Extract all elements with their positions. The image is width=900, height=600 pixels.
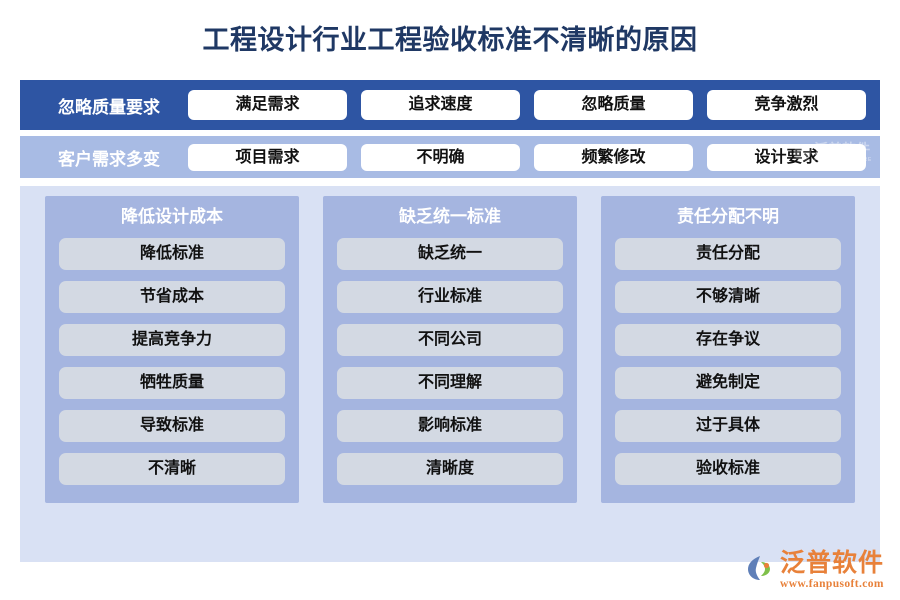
banner-row-2-label: 客户需求多变 xyxy=(34,145,184,170)
column-2-header: 缺乏统一标准 xyxy=(337,196,563,238)
banner-row-2: 客户需求多变 项目需求 不明确 频繁修改 设计要求 泛普软件 FANPU SOF… xyxy=(20,136,880,178)
column-item[interactable]: 导致标准 xyxy=(59,410,285,442)
column-group: 降低设计成本 降低标准 节省成本 提高竞争力 牺牲质量 导致标准 不清晰 缺乏统… xyxy=(45,196,855,503)
banner-row-1-label: 忽略质量要求 xyxy=(34,93,184,118)
column-2-items: 缺乏统一 行业标准 不同公司 不同理解 影响标准 清晰度 xyxy=(337,238,563,485)
fanpu-logo-icon xyxy=(746,553,776,583)
column-item[interactable]: 责任分配 xyxy=(615,238,841,270)
column-item[interactable]: 过于具体 xyxy=(615,410,841,442)
column-3-items: 责任分配 不够清晰 存在争议 避免制定 过于具体 验收标准 xyxy=(615,238,841,485)
column-3-header: 责任分配不明 xyxy=(615,196,841,238)
banner-row-1: 忽略质量要求 满足需求 追求速度 忽略质量 竞争激烈 xyxy=(20,80,880,130)
banner-pill[interactable]: 竞争激烈 xyxy=(707,90,866,120)
column-item[interactable]: 不同理解 xyxy=(337,367,563,399)
brand-name-cn: 泛普软件 xyxy=(780,551,884,576)
column-item[interactable]: 降低标准 xyxy=(59,238,285,270)
column-1-items: 降低标准 节省成本 提高竞争力 牺牲质量 导致标准 不清晰 xyxy=(59,238,285,485)
column-item[interactable]: 不同公司 xyxy=(337,324,563,356)
banner-row-2-items: 项目需求 不明确 频繁修改 设计要求 xyxy=(184,144,866,171)
column-item[interactable]: 行业标准 xyxy=(337,281,563,313)
column-2: 缺乏统一标准 缺乏统一 行业标准 不同公司 不同理解 影响标准 清晰度 xyxy=(323,196,577,503)
column-item[interactable]: 验收标准 xyxy=(615,453,841,485)
banner-pill[interactable]: 设计要求 xyxy=(707,144,866,171)
column-item[interactable]: 清晰度 xyxy=(337,453,563,485)
column-item[interactable]: 不够清晰 xyxy=(615,281,841,313)
column-3: 责任分配不明 责任分配 不够清晰 存在争议 避免制定 过于具体 验收标准 xyxy=(601,196,855,503)
column-item[interactable]: 节省成本 xyxy=(59,281,285,313)
column-1: 降低设计成本 降低标准 节省成本 提高竞争力 牺牲质量 导致标准 不清晰 xyxy=(45,196,299,503)
column-item[interactable]: 不清晰 xyxy=(59,453,285,485)
column-item[interactable]: 影响标准 xyxy=(337,410,563,442)
column-item[interactable]: 缺乏统一 xyxy=(337,238,563,270)
column-1-header: 降低设计成本 xyxy=(59,196,285,238)
brand-url: www.fanpusoft.com xyxy=(780,579,884,591)
page-title: 工程设计行业工程验收标准不清晰的原因 xyxy=(0,18,900,57)
banner-pill[interactable]: 满足需求 xyxy=(188,90,347,120)
infographic-canvas: 工程设计行业工程验收标准不清晰的原因 忽略质量要求 满足需求 追求速度 忽略质量… xyxy=(0,0,900,600)
banner-pill[interactable]: 不明确 xyxy=(361,144,520,171)
banner-pill[interactable]: 项目需求 xyxy=(188,144,347,171)
column-item[interactable]: 提高竞争力 xyxy=(59,324,285,356)
brand-text: 泛普软件 www.fanpusoft.com xyxy=(780,551,884,591)
banner-pill[interactable]: 追求速度 xyxy=(361,90,520,120)
column-item[interactable]: 存在争议 xyxy=(615,324,841,356)
banner-row-1-items: 满足需求 追求速度 忽略质量 竞争激烈 xyxy=(184,90,866,120)
banner-pill[interactable]: 忽略质量 xyxy=(534,90,693,120)
banner-pill[interactable]: 频繁修改 xyxy=(534,144,693,171)
column-item[interactable]: 牺牲质量 xyxy=(59,367,285,399)
column-item[interactable]: 避免制定 xyxy=(615,367,841,399)
brand-logo: 泛普软件 www.fanpusoft.com xyxy=(746,551,884,591)
